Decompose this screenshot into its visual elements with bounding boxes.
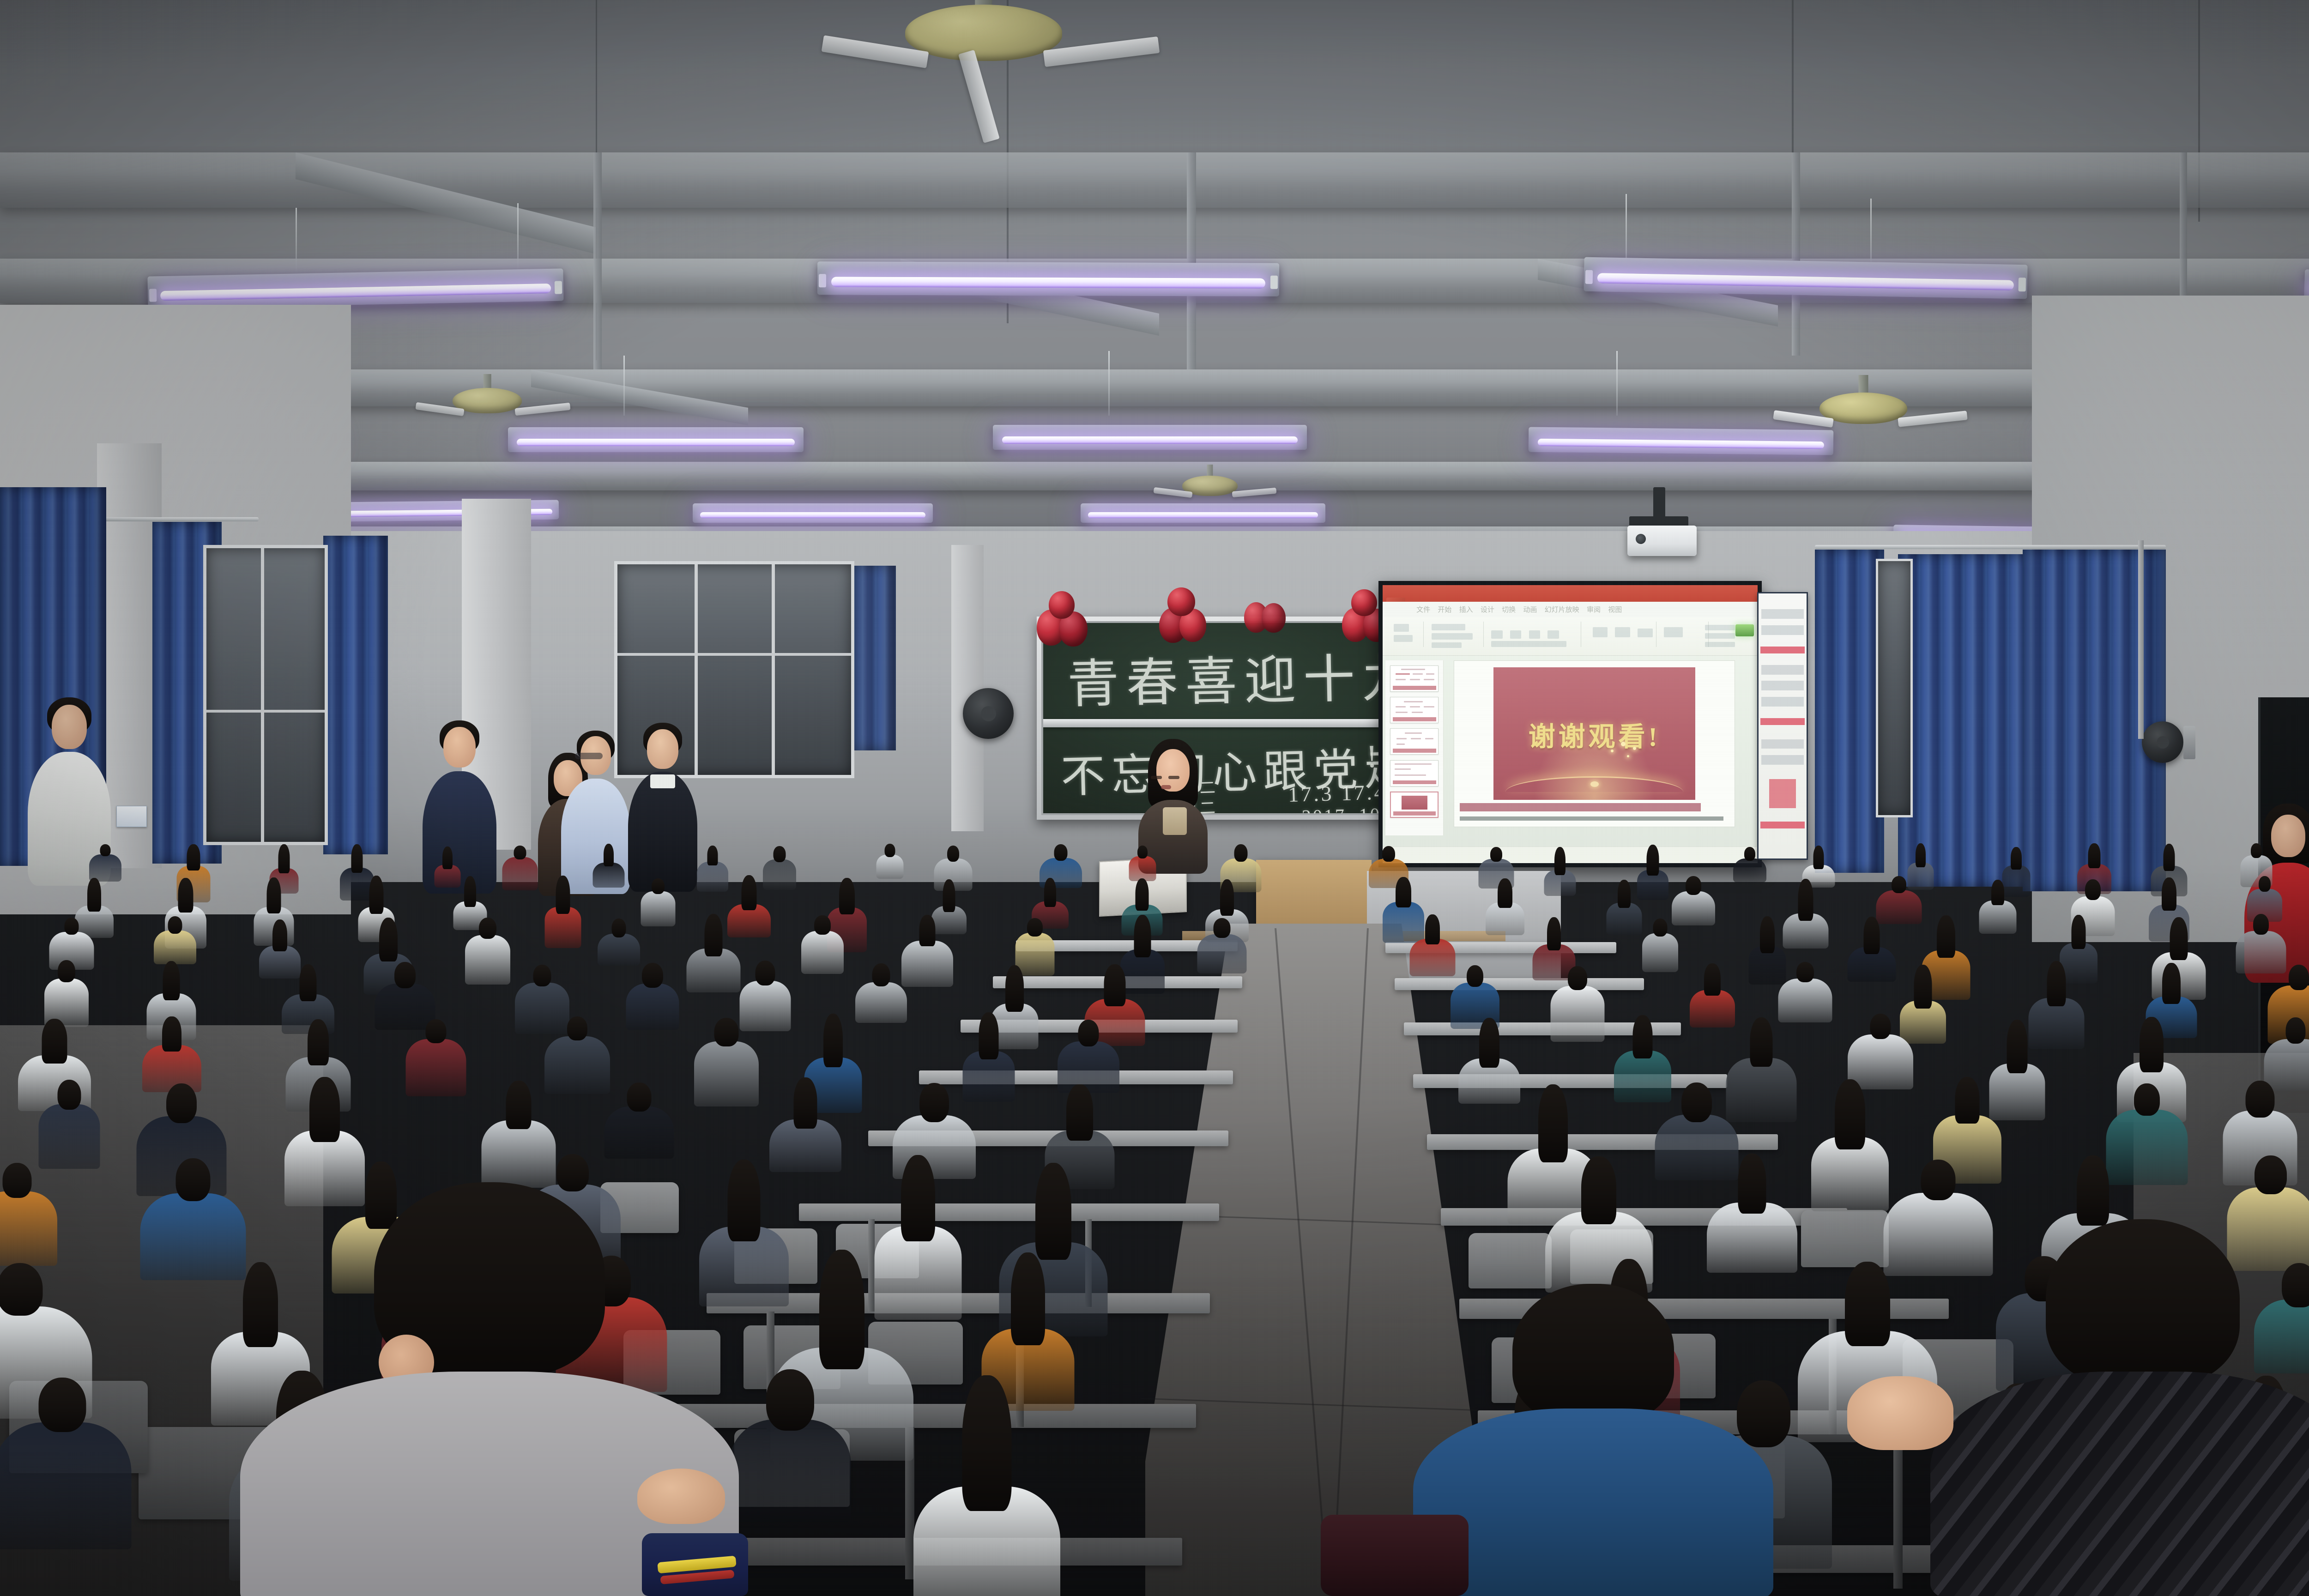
audience-hair (1870, 1014, 1891, 1039)
audience-hair (300, 964, 317, 1001)
bag-on-floor (1321, 1515, 1469, 1596)
audience-torso (641, 891, 675, 926)
audience-hair (755, 961, 775, 985)
audience-member (876, 844, 903, 881)
audience-hair (1035, 1163, 1071, 1260)
foreground-student-right (1930, 1219, 2309, 1596)
audience-hair (272, 919, 287, 951)
audience-hair (379, 918, 398, 961)
audience-member (1544, 847, 1576, 901)
audience-torso (729, 1420, 851, 1522)
audience-hair (1681, 1082, 1712, 1122)
audience-member (686, 914, 740, 1000)
audience-hair (1027, 918, 1043, 937)
audience-hair (1744, 847, 1755, 861)
audience-hair (1467, 965, 1483, 987)
audience-hair (1425, 914, 1440, 944)
audience-torso (0, 1422, 131, 1549)
audience-torso (626, 984, 679, 1030)
audience-member (729, 1369, 851, 1534)
audience-hair (556, 876, 570, 914)
audience-hair (612, 919, 626, 937)
audience-hair (962, 1375, 1012, 1511)
audience-torso (1778, 979, 1832, 1022)
audience-hair (1653, 919, 1668, 937)
audience-hair (58, 960, 75, 982)
audience-hair (742, 875, 757, 910)
classroom-photo: 青春喜迎十九大 不忘初心跟党走 ! 光二 男二 17.3 17.4 团支部 20… (0, 0, 2309, 1596)
audience-hair (919, 1083, 949, 1122)
audience-hair (1498, 878, 1512, 908)
audience-hair (1686, 876, 1701, 895)
audience-hair (3, 1163, 32, 1198)
audience-hair (1991, 880, 2004, 905)
audience-hair (1738, 1154, 1766, 1214)
audience-hair (162, 1016, 181, 1052)
audience-torso (604, 1106, 674, 1159)
audience-hair (2088, 843, 2101, 868)
audience-hair (394, 962, 416, 988)
audience-hair (1234, 844, 1247, 862)
audience-hair (1078, 1020, 1099, 1046)
audience-torso (1733, 858, 1766, 883)
audience-hair (1134, 915, 1151, 957)
audience-torso (801, 931, 844, 974)
audience-hair (87, 878, 101, 912)
audience-hair (479, 918, 496, 939)
audience-hair (1066, 1084, 1093, 1141)
audience-hair (1104, 964, 1125, 1006)
audience-member (592, 844, 624, 892)
audience-hair (704, 914, 722, 956)
audience-hair (308, 1019, 329, 1065)
audience-hair (163, 961, 180, 1000)
audience-torso (0, 1191, 57, 1266)
audience-hair (567, 1016, 587, 1040)
audience-hair (947, 846, 959, 862)
audience-hair (187, 844, 200, 871)
audience-hair (1863, 917, 1880, 954)
audience-hair (714, 1018, 739, 1046)
audience-member (1847, 917, 1896, 989)
audience-member (1707, 1154, 1797, 1284)
audience-hair (1647, 845, 1659, 876)
audience-torso (598, 934, 640, 966)
audience-hair (1396, 877, 1411, 907)
audience-member (1778, 962, 1832, 1026)
audience-member (697, 846, 728, 895)
audience-hair (0, 1263, 42, 1316)
audience-member (38, 1080, 100, 1174)
audience-hair (1044, 878, 1056, 907)
audience-hair (1914, 965, 1932, 1009)
audience-hair (1554, 847, 1566, 875)
audience-hair (442, 846, 453, 869)
audience-hair (351, 844, 363, 873)
audience-hair (819, 1250, 864, 1369)
audience-hair (2259, 876, 2271, 892)
audience-hair (1011, 1252, 1045, 1345)
audience-torso (697, 862, 728, 892)
audience-member (1783, 879, 1828, 956)
audience-hair (1220, 879, 1234, 916)
audience-hair (1760, 916, 1775, 953)
audience-hair (1135, 878, 1148, 911)
audience-hair (2072, 915, 2086, 949)
audience-member (913, 1375, 1060, 1596)
audience-hair (1382, 846, 1395, 862)
audience-hair (1916, 843, 1926, 867)
audience-hair (1137, 846, 1148, 858)
audience-hair (1005, 965, 1024, 1012)
audience-torso (876, 855, 903, 879)
audience-hair (166, 1083, 197, 1123)
audience-member (1637, 845, 1668, 906)
audience-torso (1672, 891, 1715, 925)
audience-hair (100, 844, 111, 856)
audience-hair (533, 965, 551, 986)
audience-member (1642, 919, 1678, 976)
audience-hair (1581, 1156, 1616, 1224)
audience-hair (178, 878, 193, 913)
audience-hair (2245, 1081, 2274, 1118)
audience-hair (774, 846, 786, 862)
audience-hair (1845, 1262, 1890, 1346)
audience-hair (57, 1080, 81, 1110)
audience-torso (901, 941, 953, 987)
audience-member (502, 846, 538, 893)
audience-hair (64, 918, 79, 935)
audience-member (465, 918, 510, 988)
audience-hair (2085, 879, 2101, 900)
audience-hair (943, 879, 955, 912)
audience-torso (1409, 939, 1455, 976)
audience-member (1606, 880, 1642, 940)
audience-hair (1054, 844, 1068, 861)
audience-hair (839, 878, 855, 914)
audience-hair (1538, 1084, 1568, 1162)
audience-torso (38, 1104, 100, 1169)
audience-hair (1835, 1079, 1865, 1149)
audience-member (154, 916, 196, 967)
audience-torso (1642, 933, 1678, 972)
audience-member (1811, 1079, 1889, 1224)
audience-hair (42, 1019, 67, 1064)
audience-member (0, 1378, 131, 1559)
audience-hair (514, 846, 526, 859)
audience-hair (2251, 843, 2262, 858)
audience-hair (38, 1378, 86, 1432)
audience-hair (652, 878, 665, 894)
audience-member (626, 963, 679, 1034)
audience-hair (1955, 1077, 1980, 1124)
audience-member (694, 1018, 759, 1112)
audience-torso (592, 863, 624, 888)
audience-torso (1197, 934, 1246, 973)
audience-hair (642, 963, 663, 988)
audience-hair (794, 1077, 817, 1129)
audience-torso (1979, 901, 2016, 934)
audience-member (641, 878, 675, 930)
audience-member (544, 876, 581, 955)
audience-hair (1213, 918, 1230, 938)
audience-hair (1479, 1018, 1499, 1068)
audience-hair (901, 1155, 935, 1241)
audience-hair (1813, 846, 1824, 869)
audience-hair (266, 877, 281, 913)
audience-hair (2162, 877, 2176, 911)
audience-torso (1550, 986, 1604, 1042)
audience-hair (1798, 879, 1813, 921)
audience-member (801, 915, 844, 978)
audience-hair (1921, 1160, 1955, 1200)
audience-member (604, 1082, 674, 1164)
audience-member (901, 915, 953, 992)
audience-hair (1704, 963, 1721, 996)
audience-hair (175, 1158, 210, 1201)
audience-hair (1633, 1015, 1653, 1058)
audience-member (1197, 918, 1246, 977)
audience-hair (823, 1014, 843, 1067)
audience-hair (1568, 966, 1587, 990)
audience-hair (2170, 917, 2188, 960)
audience-hair (919, 915, 936, 946)
audience-member (1672, 876, 1715, 929)
audience-hair (979, 1012, 998, 1059)
audience-member (1550, 966, 1604, 1046)
audience-torso (855, 982, 907, 1023)
audience-torso (154, 931, 196, 964)
audience-member (855, 963, 907, 1027)
audience-torso (1129, 856, 1156, 881)
audience-hair (2253, 914, 2269, 935)
audience-member (405, 1019, 466, 1100)
audience-hair (1618, 880, 1631, 908)
audience-hair (2134, 1083, 2160, 1116)
audience-hair (1490, 847, 1502, 862)
audience-hair (1892, 876, 1906, 893)
audience-hair (464, 876, 476, 907)
audience-hair (1937, 915, 1955, 958)
audience-member (1979, 880, 2016, 938)
audience-hair (1750, 1017, 1772, 1067)
audience-hair (2047, 961, 2066, 1006)
audience-hair (2285, 1017, 2305, 1044)
audience-hair (506, 1081, 531, 1129)
audience-hair (1547, 917, 1561, 950)
audience-hair (2011, 847, 2022, 870)
audience-hair (309, 1077, 340, 1142)
audience-hair (168, 916, 182, 934)
audience-hair (872, 963, 890, 986)
audience-torso (405, 1039, 466, 1096)
audience-hair (425, 1019, 446, 1043)
audience-member (1486, 878, 1524, 940)
audience-hair (2162, 963, 2181, 1004)
audience-hair (1796, 962, 1814, 982)
audience-member (1409, 914, 1455, 982)
audience-hair (604, 844, 614, 866)
audience-hair (884, 844, 895, 857)
audience-hair (2007, 1020, 2027, 1073)
audience-torso (465, 935, 510, 985)
audience-hair (2140, 1017, 2164, 1072)
audience-hair (2255, 1155, 2287, 1194)
audience-hair (707, 846, 718, 865)
audience-hair (627, 1082, 651, 1112)
audience-member (598, 919, 640, 969)
audience-member (0, 1163, 57, 1272)
audience-torso (502, 857, 538, 890)
audience-hair (2289, 965, 2309, 990)
audience-torso (694, 1041, 759, 1106)
audience-hair (766, 1369, 814, 1431)
audience-hair (278, 844, 290, 873)
audience-hair (814, 915, 831, 935)
audience-hair (2163, 844, 2175, 871)
audience-member (1733, 847, 1766, 885)
audience-hair (369, 876, 383, 914)
audience-hair (2077, 1155, 2109, 1226)
